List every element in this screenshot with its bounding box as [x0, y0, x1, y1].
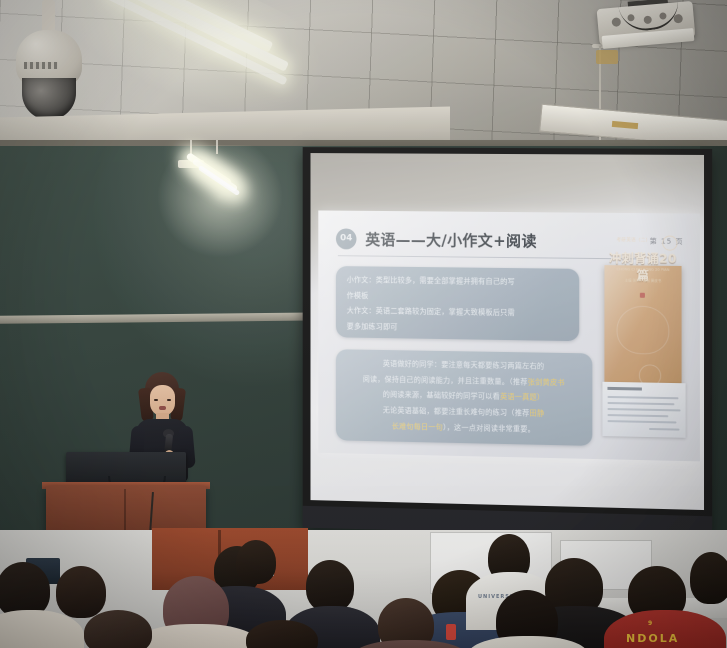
slide-text-segment: ），这一点对阅读非常重要。 [443, 422, 535, 433]
slide-text-segment: 阅读，保持自己的阅读能力，并且注重数量。（推荐 [363, 374, 528, 386]
ceiling-fitting [596, 50, 618, 64]
slide-text-highlight: 田静 [529, 408, 544, 417]
book-stamp-icon [640, 293, 645, 298]
slide-title: 英语——大/小作文+阅读 [365, 228, 537, 251]
slide-text-line: 阅读，保持自己的阅读能力，并且注重数量。（推荐张剑黄皮书 [347, 373, 582, 389]
jersey-number: 9 [648, 620, 653, 627]
hoodie-logo-patch [446, 624, 456, 640]
camera-mount-stem [42, 0, 55, 34]
book-cover-illustration [617, 306, 670, 355]
slide-text-line: 长难句每日一句），这一点对阅读非常重要。 [347, 419, 582, 436]
slide-text-line: 无论英语基础，都要注重长难句的练习（推荐田静 [347, 404, 582, 420]
slide-text-segment: 的阅读来源，基础较好的同学可以看 [383, 390, 500, 401]
book-inner-page-image [602, 382, 685, 438]
presentation-slide: 04 英语——大/小作文+阅读 第 15 页 小作文：类型比较多，需要全部掌握并… [318, 210, 700, 461]
book-seal-icon [662, 235, 677, 250]
audience-head [690, 552, 727, 604]
slide-text-box-writing: 小作文：类型比较多，需要全部掌握并拥有自己的写 作模板 大作文：英语二套路较为固… [336, 266, 579, 341]
slide-text-segment: 无论英语基础，都要注重长难句的练习（推荐 [383, 406, 530, 418]
audience-head [306, 560, 354, 612]
jersey-text: NDOLA [626, 632, 679, 645]
speaker-mouth [159, 406, 166, 410]
blackboard-top-trim [0, 140, 727, 146]
slide-text-highlight: 长难句每日一句 [392, 421, 443, 431]
slide-text-highlight: 英语一真题） [500, 392, 544, 402]
slide-text-box-reading: 英语做好的同学：要注意每天都要练习两篇左右的 阅读，保持自己的阅读能力，并且注重… [336, 349, 592, 446]
audience-head [236, 540, 276, 584]
audience-head [56, 566, 106, 618]
lamp-glow [155, 145, 285, 260]
book-subtitle-text: CHONG CI BEI SONG 20 PIAN [606, 267, 679, 272]
slide-text-line: 小作文：类型比较多，需要全部掌握并拥有自己的写 [347, 274, 568, 288]
audience-area: UNIVERSITY 9 NDOLA [0, 524, 727, 648]
projection-screen: 04 英语——大/小作文+阅读 第 15 页 小作文：类型比较多，需要全部掌握并… [303, 147, 712, 538]
slide-text-line: 大作文：英语二套路较为固定，掌握大致模板后只需 [347, 305, 568, 320]
slide-text-line: 要多加练习即可 [347, 321, 568, 336]
slide-text-line: 作模板 [347, 290, 568, 305]
book-author-text: 主编 张剑 / 编著 黄皮书 [606, 277, 679, 283]
book-brand-text: 考研英语（二） [617, 237, 651, 243]
slide-text-line: 英语做好的同学：要注意每天都要练习两篇左右的 [347, 357, 582, 373]
book-page-heading [607, 387, 641, 391]
slide-title-divider [338, 255, 637, 259]
projection-screen-surface: 04 英语——大/小作文+阅读 第 15 页 小作文：类型比较多，需要全部掌握并… [310, 153, 704, 510]
classroom-photo: 04 英语——大/小作文+阅读 第 15 页 小作文：类型比较多，需要全部掌握并… [0, 0, 727, 648]
slide-text-line: 的阅读来源，基础较好的同学可以看英语一真题） [347, 388, 582, 404]
camera-label-strip [24, 62, 58, 69]
slide-section-badge: 04 [336, 228, 357, 249]
slide-text-highlight: 张剑黄皮书 [528, 377, 565, 387]
audience-head [84, 610, 152, 648]
